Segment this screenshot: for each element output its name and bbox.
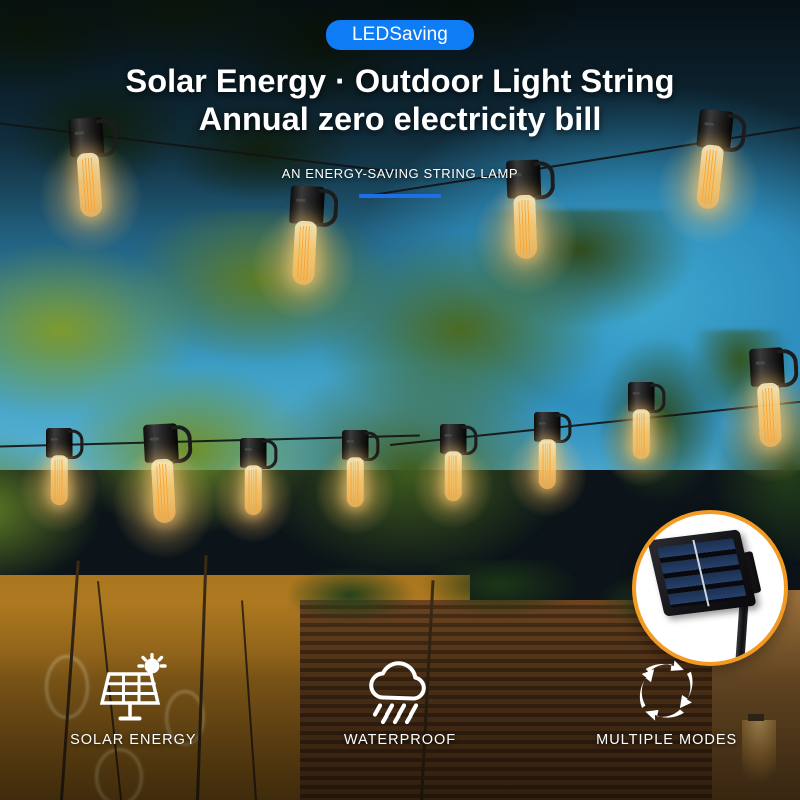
headline-line-1: Solar Energy · Outdoor Light String — [126, 63, 675, 99]
bulb-filament — [249, 469, 258, 511]
panel-body — [647, 529, 756, 616]
light-bulb — [628, 382, 655, 472]
page-title: Solar Energy · Outdoor Light String Annu… — [0, 62, 800, 139]
bulb-hook — [650, 384, 666, 414]
solar-panel-sun-icon — [96, 650, 170, 728]
bulb-filament — [351, 461, 360, 503]
solar-panel-stake-photo — [650, 530, 768, 642]
feature-label: WATERPROOF — [344, 732, 456, 748]
bulb-filament — [543, 443, 552, 485]
headline-line-2: Annual zero electricity bill — [0, 100, 800, 138]
bulb-hook — [364, 432, 380, 462]
feature-row: SOLAR ENERGY WATERPROOF — [0, 650, 800, 800]
light-bulb — [240, 438, 267, 528]
bulb-hook — [556, 414, 572, 444]
bulb-filament — [449, 455, 458, 497]
brand-badge: LEDSaving — [326, 20, 474, 50]
rain-cloud-icon — [363, 650, 437, 728]
cycle-arrows-icon — [630, 650, 704, 728]
feature-label: SOLAR ENERGY — [70, 732, 196, 748]
light-bulb — [46, 428, 73, 518]
bulb-hook — [68, 430, 84, 460]
light-bulb — [342, 430, 369, 520]
light-bulb — [749, 347, 789, 465]
product-inset-badge — [632, 510, 788, 666]
light-bulb — [285, 185, 325, 303]
feature-waterproof: WATERPROOF — [285, 650, 515, 748]
light-bulb — [440, 424, 467, 514]
bulb-hook — [462, 426, 478, 456]
product-banner: LEDSaving Solar Energy · Outdoor Light S… — [0, 0, 800, 800]
subtitle: AN ENERGY-SAVING STRING LAMP — [0, 166, 800, 181]
bulb-filament — [55, 459, 64, 501]
bulb-hook — [262, 440, 278, 470]
feature-multiple-modes: MULTIPLE MODES — [552, 650, 782, 748]
feature-solar-energy: SOLAR ENERGY — [18, 650, 248, 748]
feature-label: MULTIPLE MODES — [596, 732, 737, 748]
light-bulb — [143, 423, 183, 541]
bulb-filament — [637, 413, 646, 455]
bulb-filament — [518, 200, 532, 254]
subtitle-underline — [359, 194, 441, 198]
light-bulb — [534, 412, 561, 502]
